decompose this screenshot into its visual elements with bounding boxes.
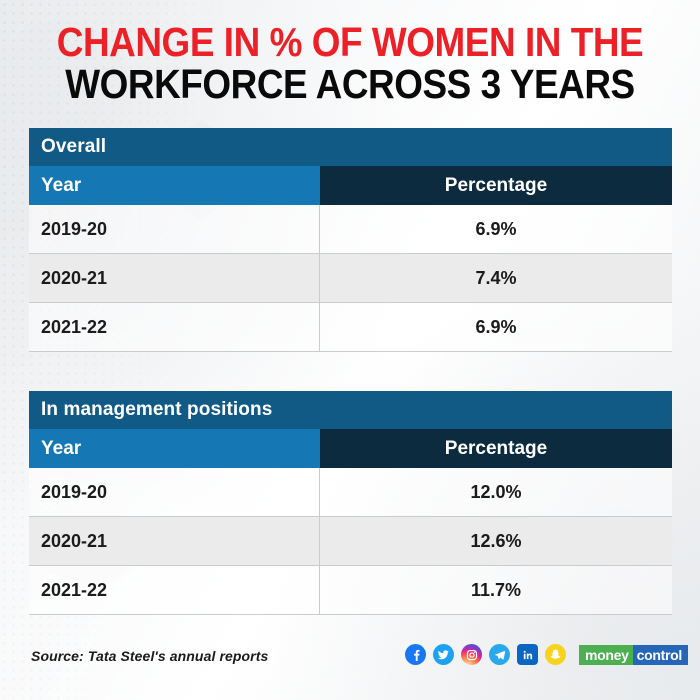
table-management-header-row: Year Percentage: [29, 429, 672, 468]
table-overall: Overall Year Percentage 2019-20 6.9% 202…: [29, 128, 672, 352]
logo-control-text: control: [633, 645, 688, 665]
column-header-percentage: Percentage: [320, 429, 672, 468]
linkedin-icon[interactable]: [517, 644, 538, 665]
table-overall-header-row: Year Percentage: [29, 166, 672, 205]
table-row: 2021-22 6.9%: [29, 303, 672, 352]
table-overall-caption: Overall: [29, 128, 672, 166]
table-row: 2019-20 6.9%: [29, 205, 672, 254]
column-header-year: Year: [29, 429, 320, 468]
cell-percentage: 12.6%: [320, 517, 672, 565]
moneycontrol-logo[interactable]: money control: [579, 645, 688, 665]
cell-percentage: 6.9%: [320, 303, 672, 351]
source-attribution: Source: Tata Steel's annual reports: [31, 648, 268, 664]
table-row: 2020-21 7.4%: [29, 254, 672, 303]
column-header-percentage: Percentage: [320, 166, 672, 205]
cell-year: 2021-22: [29, 303, 320, 351]
page-title: CHANGE IN % OF WOMEN IN THE WORKFORCE AC…: [0, 22, 700, 106]
cell-percentage: 11.7%: [320, 566, 672, 614]
telegram-icon[interactable]: [489, 644, 510, 665]
title-line-primary: CHANGE IN % OF WOMEN IN THE: [35, 22, 665, 64]
table-row: 2019-20 12.0%: [29, 468, 672, 517]
title-line-secondary: WORKFORCE ACROSS 3 YEARS: [35, 64, 665, 106]
table-row: 2021-22 11.7%: [29, 566, 672, 615]
column-header-year: Year: [29, 166, 320, 205]
cell-percentage: 12.0%: [320, 468, 672, 516]
cell-year: 2019-20: [29, 205, 320, 253]
table-management-body: 2019-20 12.0% 2020-21 12.6% 2021-22 11.7…: [29, 468, 672, 615]
table-management-caption: In management positions: [29, 391, 672, 429]
instagram-icon[interactable]: [461, 644, 482, 665]
cell-year: 2020-21: [29, 517, 320, 565]
table-row: 2020-21 12.6%: [29, 517, 672, 566]
footer: Source: Tata Steel's annual reports: [0, 640, 700, 680]
cell-year: 2020-21: [29, 254, 320, 302]
table-overall-body: 2019-20 6.9% 2020-21 7.4% 2021-22 6.9%: [29, 205, 672, 352]
cell-percentage: 6.9%: [320, 205, 672, 253]
snapchat-icon[interactable]: [545, 644, 566, 665]
twitter-icon[interactable]: [433, 644, 454, 665]
logo-money-text: money: [579, 645, 633, 665]
facebook-icon[interactable]: [405, 644, 426, 665]
infographic-card: CHANGE IN % OF WOMEN IN THE WORKFORCE AC…: [0, 0, 700, 700]
social-links: money control: [405, 644, 688, 665]
table-management-positions: In management positions Year Percentage …: [29, 391, 672, 615]
cell-year: 2021-22: [29, 566, 320, 614]
cell-year: 2019-20: [29, 468, 320, 516]
cell-percentage: 7.4%: [320, 254, 672, 302]
